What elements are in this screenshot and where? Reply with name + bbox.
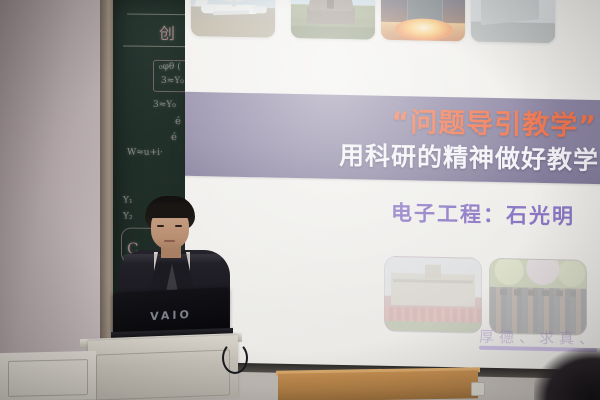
awacs-aircraft-photo	[191, 0, 275, 38]
chalkboard-character: 创	[159, 20, 175, 44]
projection-screen: “问题导引教学” 用科研的精神做好教学 电子工程：石光明 厚德、求真、	[185, 0, 600, 378]
lecture-hall-photo: 创 ₀φθ ( 3≈Y₀ 3≈Y₀ é é W≈u+i· Y₁ Y₂ C	[0, 0, 600, 400]
chalk-note-a: ₀φθ (	[159, 62, 181, 72]
graduation-ceremony-photo	[489, 258, 587, 336]
modern-building-photo	[471, 0, 555, 43]
mouth	[164, 240, 175, 242]
slide-subtitle: 用科研的精神做好教学	[185, 133, 599, 177]
side-cabinet-panel	[8, 359, 88, 397]
foreground-dark-object	[534, 348, 600, 400]
eye-left	[157, 225, 164, 227]
hair-fringe	[147, 204, 193, 218]
slide-top-photo-strip	[185, 0, 600, 58]
campus-building-photo	[384, 256, 482, 334]
slide-presenter-line: 电子工程：石光明	[185, 193, 575, 231]
podium	[88, 335, 238, 400]
eye-right	[175, 225, 182, 227]
chalk-note-d: é	[175, 116, 181, 127]
wall-socket	[471, 382, 485, 396]
slide-title-band: “问题导引教学” 用科研的精神做好教学	[185, 92, 600, 184]
chalk-note-b: 3≈Y₀	[161, 76, 184, 86]
chalk-note-f: W≈u+i·	[127, 148, 163, 158]
chalk-note-c: 3≈Y₀	[153, 100, 176, 110]
wooden-desk	[278, 370, 478, 400]
power-cable-loop	[222, 342, 248, 374]
rocket-launch-photo	[381, 0, 465, 41]
podium-panel	[96, 349, 230, 400]
observatory-dome-photo	[291, 0, 375, 40]
vaio-laptop: VAIO	[113, 290, 229, 340]
chalk-note-e: é	[171, 132, 177, 143]
